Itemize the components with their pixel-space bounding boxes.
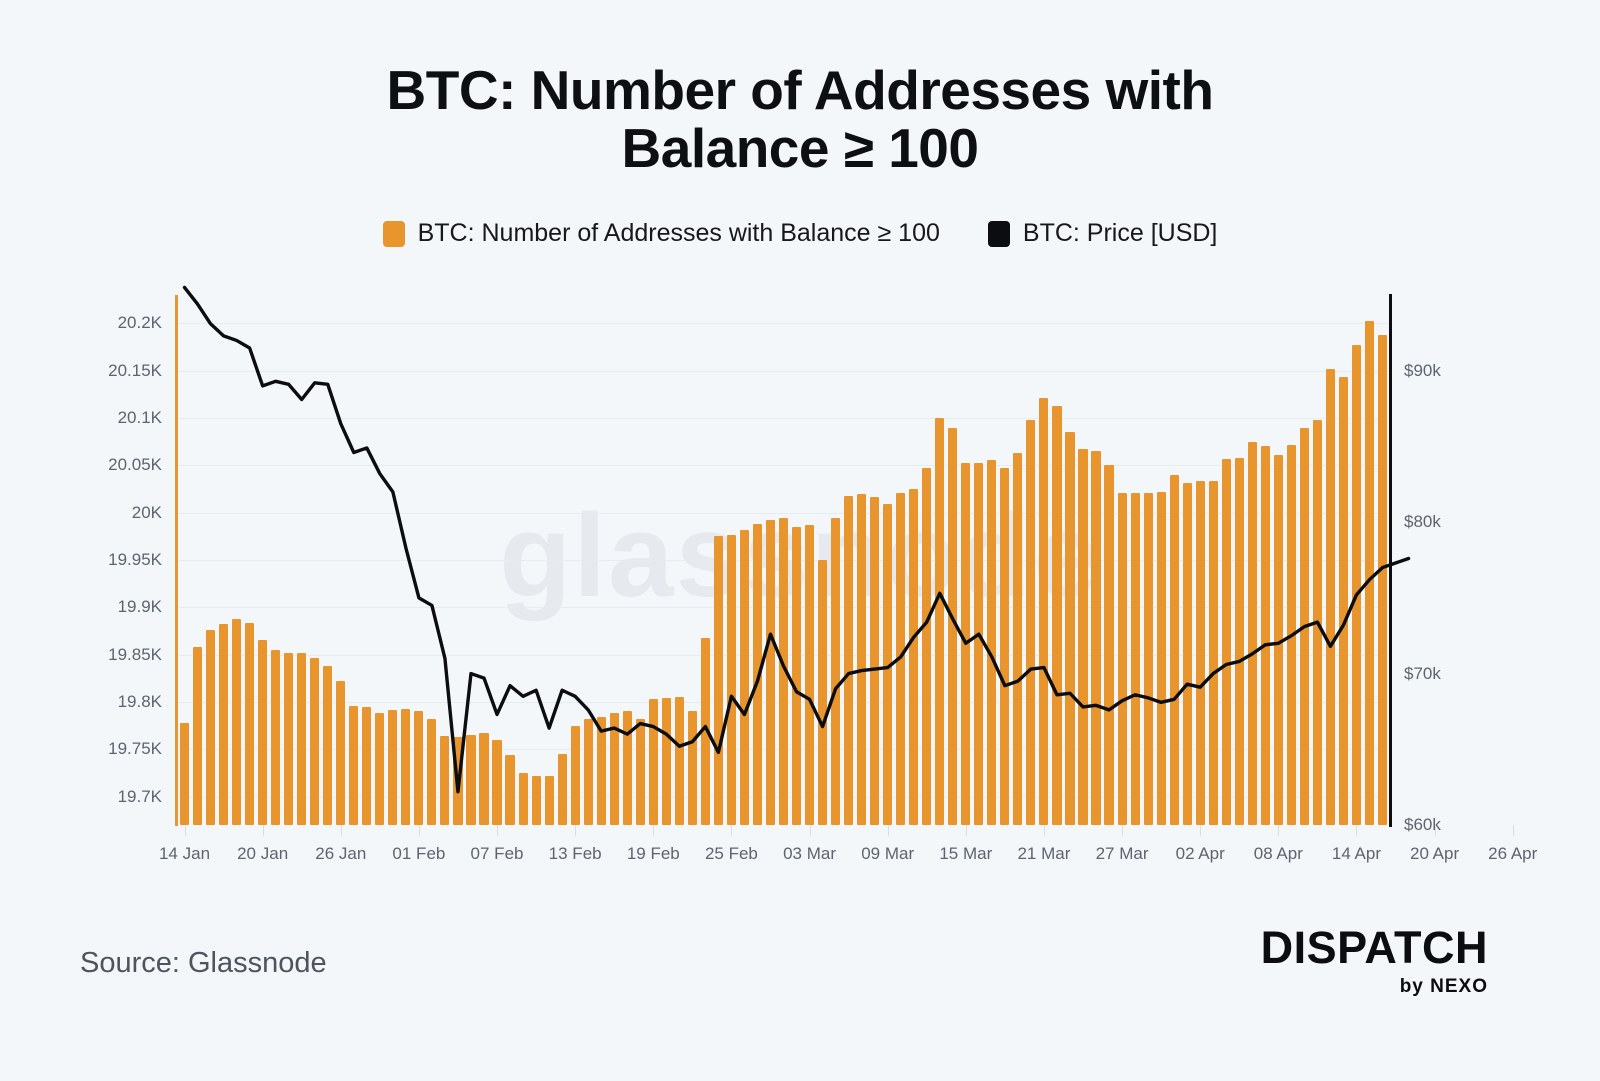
y-axis-left-tick-label: 19.95K [72, 550, 162, 570]
y-axis-right-tick-label: $70k [1404, 664, 1484, 684]
y-axis-right-tick-label: $80k [1404, 512, 1484, 532]
y-axis-left-tick-label: 19.85K [72, 645, 162, 665]
x-axis-tick [341, 825, 342, 836]
brand-logo: DISPATCH by NEXO [1261, 925, 1488, 998]
y-axis-left-tick-label: 19.75K [72, 739, 162, 759]
x-axis-tick-label: 07 Feb [471, 844, 524, 864]
source-note: Source: Glassnode [80, 947, 327, 980]
y-axis-left-tick-label: 20.05K [72, 455, 162, 475]
x-axis-tick-label: 27 Mar [1096, 844, 1149, 864]
x-axis-tick-label: 13 Feb [549, 844, 602, 864]
brand-name: DISPATCH [1261, 925, 1488, 970]
x-axis-tick [810, 825, 811, 836]
x-axis-tick-label: 03 Mar [783, 844, 836, 864]
x-axis-tick [653, 825, 654, 836]
y-axis-right-tick-label: $60k [1404, 815, 1484, 835]
x-axis-tick [1278, 825, 1279, 836]
x-axis-tick-label: 09 Mar [861, 844, 914, 864]
y-axis-left-tick-label: 20K [72, 503, 162, 523]
x-axis-tick [888, 825, 889, 836]
x-axis-tick [497, 825, 498, 836]
y-axis-left [175, 295, 178, 826]
y-axis-right-tick-label: $90k [1404, 361, 1484, 381]
price-line [185, 287, 1409, 791]
x-axis-tick-label: 02 Apr [1176, 844, 1225, 864]
x-axis-tick [263, 825, 264, 836]
x-axis-tick [185, 825, 186, 836]
x-axis-tick [1435, 825, 1436, 836]
x-axis-tick [1122, 825, 1123, 836]
x-axis-tick-label: 14 Apr [1332, 844, 1381, 864]
y-axis-left-tick-label: 20.15K [72, 361, 162, 381]
x-axis-tick [1356, 825, 1357, 836]
line-series-price [0, 0, 1600, 900]
x-axis-tick-label: 25 Feb [705, 844, 758, 864]
x-axis-tick [1044, 825, 1045, 836]
y-axis-left-tick-label: 19.7K [72, 787, 162, 807]
brand-tagline: by NEXO [1261, 976, 1488, 998]
x-axis-tick [1200, 825, 1201, 836]
x-axis-tick-label: 20 Jan [237, 844, 288, 864]
y-axis-left-tick-label: 20.1K [72, 408, 162, 428]
x-axis-tick-label: 26 Jan [315, 844, 366, 864]
x-axis-tick-label: 01 Feb [392, 844, 445, 864]
chart-page: BTC: Number of Addresses with Balance ≥ … [0, 0, 1600, 1081]
x-axis-tick [419, 825, 420, 836]
x-axis-tick-label: 21 Mar [1017, 844, 1070, 864]
x-axis-tick [575, 825, 576, 836]
x-axis-tick-label: 15 Mar [939, 844, 992, 864]
y-axis-left-tick-label: 19.9K [72, 597, 162, 617]
x-axis-tick [731, 825, 732, 836]
x-axis-tick [1513, 825, 1514, 836]
x-axis-tick-label: 14 Jan [159, 844, 210, 864]
x-axis-tick-label: 26 Apr [1488, 844, 1537, 864]
y-axis-left-tick-label: 19.8K [72, 692, 162, 712]
x-axis-tick-label: 19 Feb [627, 844, 680, 864]
x-axis-tick [966, 825, 967, 836]
plot-area: glassnode 19.7K19.75K19.8K19.85K19.9K19.… [0, 0, 1600, 900]
x-axis-tick-label: 08 Apr [1254, 844, 1303, 864]
x-axis-tick-label: 20 Apr [1410, 844, 1459, 864]
y-axis-right [1389, 294, 1392, 827]
y-axis-left-tick-label: 20.2K [72, 313, 162, 333]
